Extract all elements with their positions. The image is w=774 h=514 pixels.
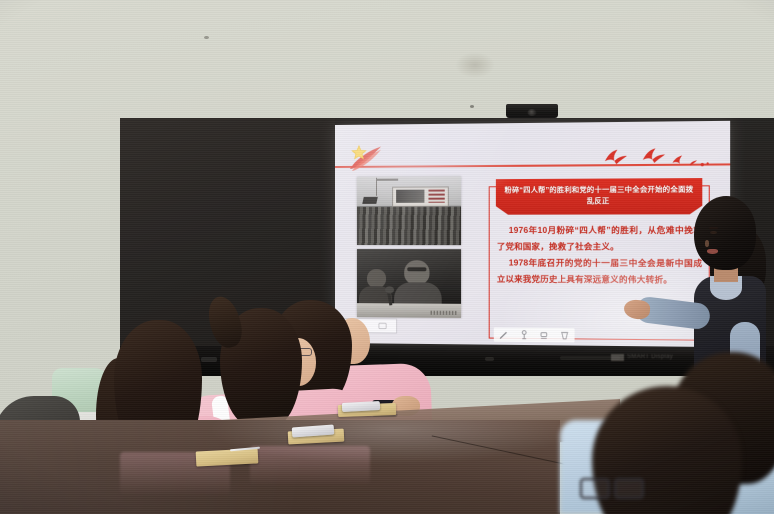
photo-banner-text <box>428 190 444 202</box>
foreground-glasses-icon <box>580 478 642 504</box>
pen-tool[interactable] <box>498 329 509 340</box>
teacher-mouth <box>707 249 718 254</box>
photo-banner <box>392 186 448 207</box>
wall-stain <box>455 52 495 78</box>
classroom-scene: SMART Display <box>0 0 774 514</box>
photo-microphone-head-icon <box>385 286 394 293</box>
photo-crane <box>376 178 378 196</box>
ir-sensor-icon-2 <box>485 357 494 361</box>
photo-crowd-rally <box>357 176 461 245</box>
photo-glasses-icon <box>408 268 427 271</box>
teacher-eye <box>710 231 717 234</box>
photo-flag <box>362 197 378 205</box>
clear-tool[interactable] <box>559 330 570 341</box>
photo-person-main-head <box>405 260 430 285</box>
gold-star-red-ribbon-icon <box>348 141 382 173</box>
camera-lens-icon <box>528 109 537 116</box>
teacher-hair <box>694 196 756 270</box>
photo-crowd <box>357 207 461 246</box>
photo-banner-art <box>396 190 424 203</box>
highlighter-tool[interactable] <box>518 329 529 340</box>
table-reflection-student-2 <box>250 446 370 486</box>
glasses-right-lens <box>614 478 644 499</box>
eraser-tool[interactable] <box>538 329 549 340</box>
teacher-eyebrow <box>709 227 718 229</box>
wall-mark <box>204 36 209 39</box>
wall-mark-2 <box>470 105 474 108</box>
photo-caption <box>431 310 458 315</box>
teacher-nose <box>705 240 709 247</box>
camera-module <box>506 104 558 118</box>
photo-crane-arm <box>376 179 399 181</box>
glasses-left-lens <box>580 478 610 499</box>
flying-doves-icon <box>599 146 716 170</box>
whiteboard-toolbar[interactable] <box>494 327 575 342</box>
teacher-pointing-hand <box>623 299 651 320</box>
